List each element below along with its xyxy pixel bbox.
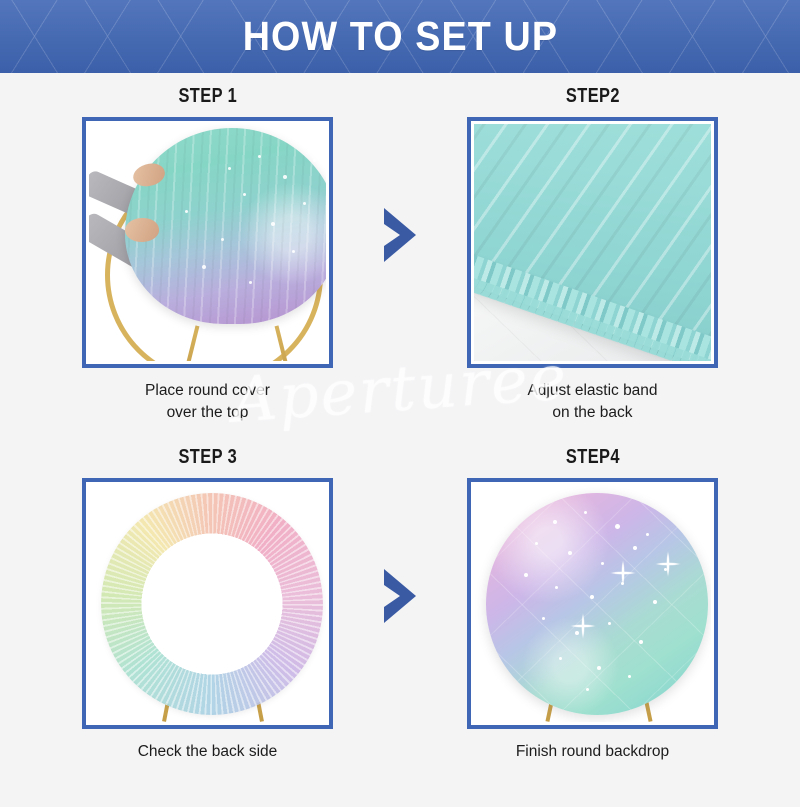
sparkle-star-icon-1 — [610, 560, 636, 586]
chevron-right-icon — [380, 206, 420, 264]
pastel-rainbow-rim — [101, 493, 323, 715]
step-2-caption: Adjust elastic band on the back — [527, 380, 657, 424]
step-4-photo — [474, 485, 711, 722]
steps-grid: STEP 1 — [0, 73, 800, 807]
chevron-right-icon — [380, 567, 420, 625]
step-card-3: STEP 3 Check the back side — [50, 446, 365, 763]
step-2-photo — [474, 124, 711, 361]
arrow-gutter-bottom — [365, 446, 435, 746]
step-card-4: STEP4 — [435, 446, 750, 763]
steps-row-bottom: STEP 3 Check the back side — [0, 446, 800, 807]
step-1-image-panel — [82, 117, 333, 368]
page-title: HOW TO SET UP — [242, 13, 557, 60]
step-3-photo — [89, 485, 326, 722]
step-2-caption-line-1: Adjust elastic band — [527, 380, 657, 402]
step-2-image-panel — [467, 117, 718, 368]
step-2-caption-line-2: on the back — [527, 402, 657, 424]
step-4-image-panel — [467, 478, 718, 729]
step-1-caption-line-2: over the top — [145, 402, 270, 424]
step-card-2: STEP2 Adjust elastic band on the back — [435, 85, 750, 424]
step-1-caption-line-1: Place round cover — [145, 380, 270, 402]
step-4-caption: Finish round backdrop — [516, 741, 669, 763]
step-3-image-panel — [82, 478, 333, 729]
step-4-caption-line-1: Finish round backdrop — [516, 741, 669, 763]
step-1-photo — [89, 124, 326, 361]
finished-backdrop-disc — [486, 493, 708, 715]
step-3-caption-line-1: Check the back side — [138, 741, 278, 763]
step-card-1: STEP 1 — [50, 85, 365, 424]
step-3-label: STEP 3 — [178, 446, 237, 469]
hoop-leg-left — [181, 325, 200, 361]
arrow-gutter-top — [365, 85, 435, 385]
step-4-background — [474, 485, 711, 722]
step-3-caption: Check the back side — [138, 741, 278, 763]
backdrop-star-speckles — [486, 493, 708, 715]
step-2-label: STEP2 — [565, 85, 619, 108]
page-header: HOW TO SET UP — [0, 0, 800, 73]
step-4-label: STEP4 — [565, 446, 619, 469]
sparkle-star-icon-3 — [570, 613, 596, 639]
steps-row-top: STEP 1 — [0, 85, 800, 446]
step-1-caption: Place round cover over the top — [145, 380, 270, 424]
step-1-label: STEP 1 — [178, 85, 237, 108]
sparkle-star-icon-2 — [655, 551, 681, 577]
step-2-background — [474, 124, 711, 361]
step-3-background — [89, 485, 326, 722]
